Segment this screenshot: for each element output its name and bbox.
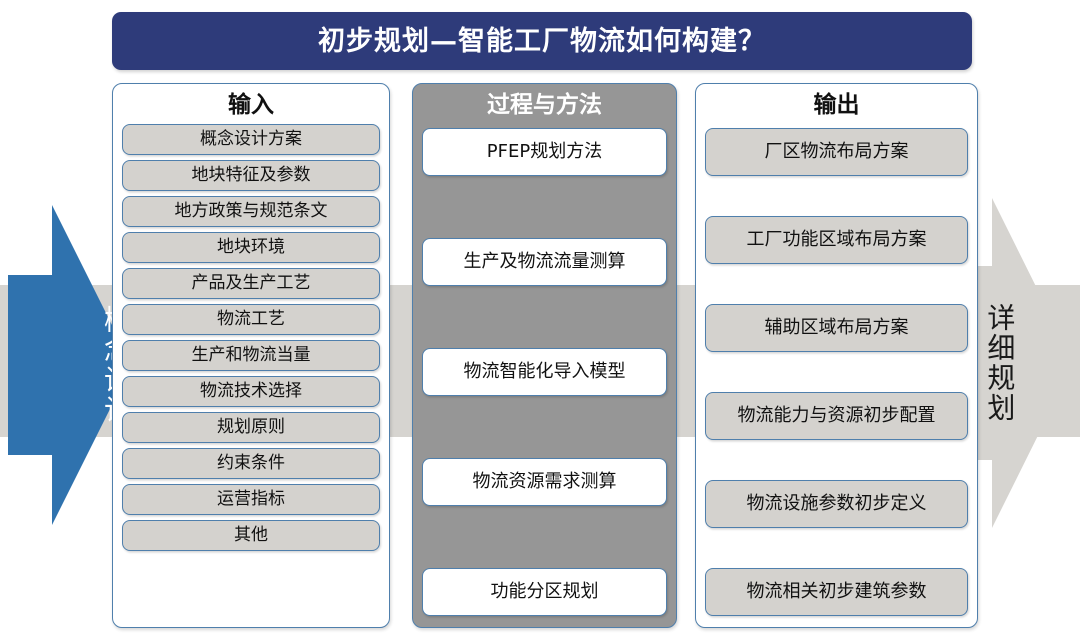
list-item[interactable]: 其他	[122, 520, 380, 551]
phase-arrow-right: 详细规划	[962, 198, 1074, 528]
list-item[interactable]: 规划原则	[122, 412, 380, 443]
list-item[interactable]: 辅助区域布局方案	[705, 304, 968, 352]
list-item[interactable]: 厂区物流布局方案	[705, 128, 968, 176]
list-item[interactable]: 物流技术选择	[122, 376, 380, 407]
column-input-header: 输入	[113, 84, 389, 124]
diagram-title: 初步规划—智能工厂物流如何构建？	[318, 28, 766, 55]
list-item[interactable]: PFEP规划方法	[422, 128, 667, 176]
list-item[interactable]: 物流智能化导入模型	[422, 348, 667, 396]
column-output: 输出 厂区物流布局方案 工厂功能区域布局方案 辅助区域布局方案 物流能力与资源初…	[695, 83, 978, 628]
list-item[interactable]: 物流设施参数初步定义	[705, 480, 968, 528]
column-input: 输入 概念设计方案 地块特征及参数 地方政策与规范条文 地块环境 产品及生产工艺…	[112, 83, 390, 628]
list-item[interactable]: 运营指标	[122, 484, 380, 515]
list-item[interactable]: 约束条件	[122, 448, 380, 479]
list-item[interactable]: 生产和物流当量	[122, 340, 380, 371]
list-item[interactable]: 功能分区规划	[422, 568, 667, 616]
list-item[interactable]: 产品及生产工艺	[122, 268, 380, 299]
list-item[interactable]: 物流相关初步建筑参数	[705, 568, 968, 616]
column-input-body: 概念设计方案 地块特征及参数 地方政策与规范条文 地块环境 产品及生产工艺 物流…	[113, 124, 389, 627]
column-process: 过程与方法 PFEP规划方法 生产及物流流量测算 物流智能化导入模型 物流资源需…	[412, 83, 677, 628]
list-item[interactable]: 地块特征及参数	[122, 160, 380, 191]
diagram-canvas: 概念设计 详细规划 初步规划—智能工厂物流如何构建？ 输入 概念设计方案 地块特…	[0, 0, 1080, 640]
column-process-header: 过程与方法	[413, 84, 676, 124]
list-item[interactable]: 物流工艺	[122, 304, 380, 335]
list-item[interactable]: 地块环境	[122, 232, 380, 263]
column-process-body: PFEP规划方法 生产及物流流量测算 物流智能化导入模型 物流资源需求测算 功能…	[413, 124, 676, 627]
list-item[interactable]: 地方政策与规范条文	[122, 196, 380, 227]
arrow-right-icon	[962, 198, 1074, 528]
list-item[interactable]: 物流能力与资源初步配置	[705, 392, 968, 440]
list-item[interactable]: 物流资源需求测算	[422, 458, 667, 506]
column-output-body: 厂区物流布局方案 工厂功能区域布局方案 辅助区域布局方案 物流能力与资源初步配置…	[696, 124, 977, 627]
list-item[interactable]: 工厂功能区域布局方案	[705, 216, 968, 264]
list-item[interactable]: 生产及物流流量测算	[422, 238, 667, 286]
column-output-header: 输出	[696, 84, 977, 124]
diagram-title-bar: 初步规划—智能工厂物流如何构建？	[112, 12, 972, 70]
list-item[interactable]: 概念设计方案	[122, 124, 380, 155]
